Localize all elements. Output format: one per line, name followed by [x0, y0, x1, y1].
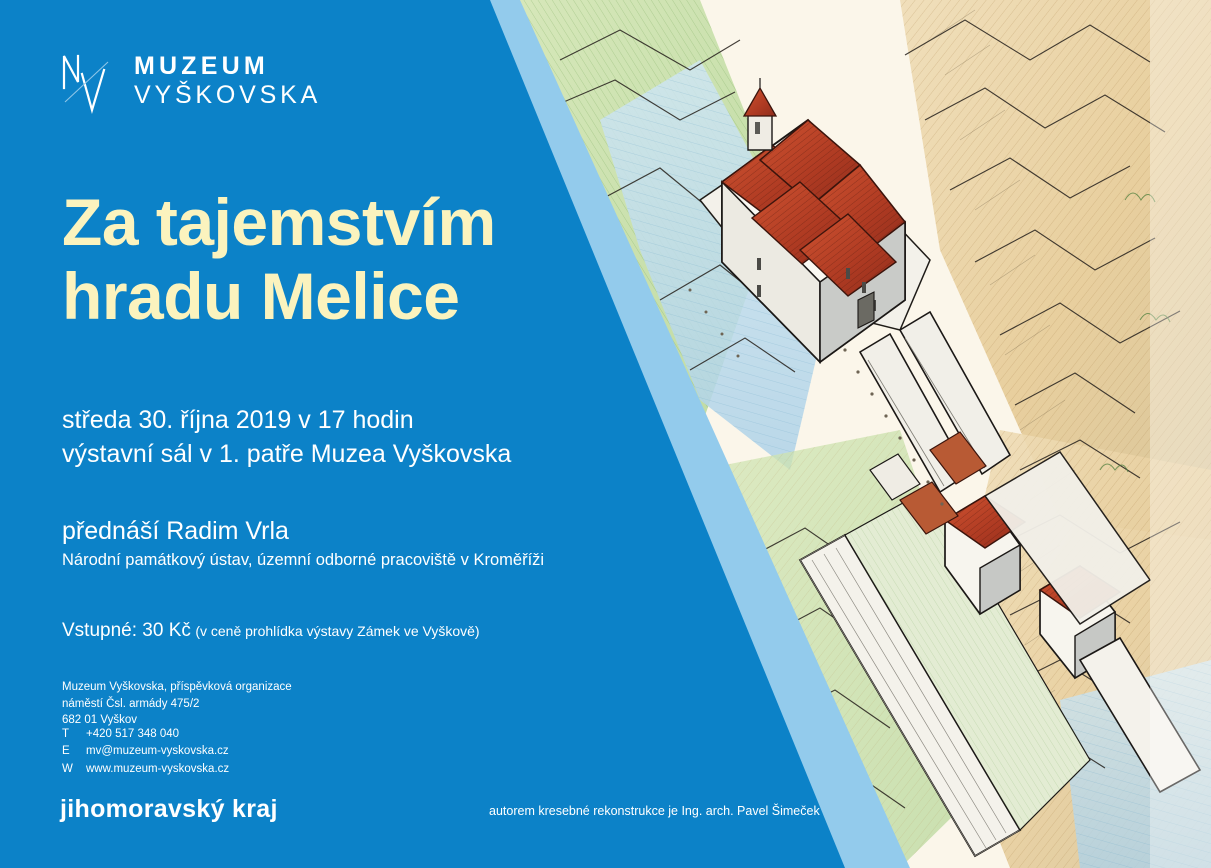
contact-key-web: W	[62, 761, 86, 778]
contact-list: T +420 517 348 040 E mv@muzeum-vyskovska…	[62, 726, 229, 778]
speaker-organisation: Národní památkový ústav, územní odborné …	[62, 550, 544, 571]
mv-monogram-icon	[60, 48, 116, 114]
jmk-part-3: oravský kraj	[128, 795, 278, 823]
page-title: Za tajemstvím hradu Melice	[62, 186, 622, 334]
admission-line: Vstupné: 30 Kč (v ceně prohlídka výstavy…	[62, 620, 480, 643]
illustration-credit: autorem kresebné rekonstrukce je Ing. ar…	[489, 804, 820, 819]
address-line-2: náměstí Čsl. armády 475/2	[62, 696, 292, 713]
poster-canvas: MUZEUM VYŠKOVSKA Za tajemstvím hradu Mel…	[0, 0, 1211, 868]
contact-value-web[interactable]: www.muzeum-vyskovska.cz	[86, 761, 229, 778]
museum-address: Muzeum Vyškovska, příspěvková organizace…	[62, 679, 292, 729]
address-line-1: Muzeum Vyškovska, příspěvková organizace	[62, 679, 292, 696]
jihomoravsky-kraj-logo[interactable]: jihomoravský kraj	[60, 797, 278, 822]
jmk-logo-mark-m: m	[106, 797, 129, 822]
contact-value-email[interactable]: mv@muzeum-vyskovska.cz	[86, 743, 229, 760]
event-date: středa 30. října 2019 v 17 hodin	[62, 404, 511, 438]
admission-note: (v ceně prohlídka výstavy Zámek ve Vyško…	[195, 623, 479, 639]
jmk-part-1: jiho	[60, 795, 106, 823]
title-line-2: hradu Melice	[62, 260, 622, 334]
contact-row-phone: T +420 517 348 040	[62, 726, 229, 743]
event-details: středa 30. října 2019 v 17 hodin výstavn…	[62, 404, 511, 472]
speaker-name: přednáší Radim Vrla	[62, 516, 289, 546]
contact-value-phone[interactable]: +420 517 348 040	[86, 726, 179, 743]
admission-price: Vstupné: 30 Kč	[62, 620, 191, 641]
contact-key-phone: T	[62, 726, 86, 743]
contact-row-email: E mv@muzeum-vyskovska.cz	[62, 743, 229, 760]
title-line-1: Za tajemstvím	[62, 186, 622, 260]
museum-logo-line2: VYŠKOVSKA	[134, 83, 321, 108]
museum-logo-line1: MUZEUM	[134, 54, 321, 79]
contact-key-email: E	[62, 743, 86, 760]
contact-row-web: W www.muzeum-vyskovska.cz	[62, 761, 229, 778]
poster-content: MUZEUM VYŠKOVSKA Za tajemstvím hradu Mel…	[0, 0, 640, 868]
museum-logo[interactable]: MUZEUM VYŠKOVSKA	[60, 48, 321, 114]
event-venue: výstavní sál v 1. patře Muzea Vyškovska	[62, 438, 511, 472]
